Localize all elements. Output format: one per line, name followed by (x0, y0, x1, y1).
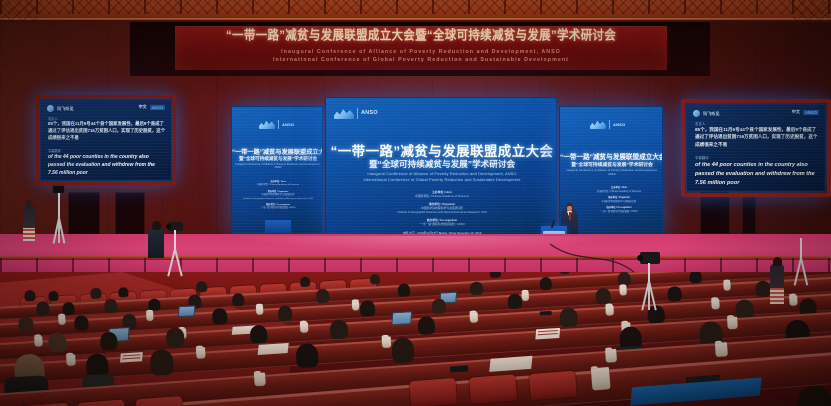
acoustic-panel (68, 192, 100, 240)
overhead-banner: “一带一路”减贫与发展联盟成立大会暨“全球可持续减贫与发展”学术研讨会 Inau… (175, 26, 667, 70)
right-screen-body: 主办单位 / Host 中国科学院 / Chinese Academy of S… (580, 187, 658, 214)
anso-mark-icon (590, 119, 606, 129)
body-line: “一带一路”国际科学组织联盟 / ANSO (580, 211, 658, 215)
left-screen-body: 主办单位 / Host 中国科学院 / Chinese Academy of S… (238, 181, 318, 211)
seat (136, 396, 184, 406)
body-line: 中国科学院 / Chinese Academy of Sciences (238, 184, 318, 187)
anso-logo-center: ANSO (334, 107, 378, 119)
body-line: “一带一路”国际科学组织联盟 / ANSO (238, 207, 318, 210)
seat (529, 371, 577, 400)
tripod-leg (648, 281, 650, 310)
audience-head (18, 316, 34, 333)
body-line: 中国科学院地理科学与资源研究所 (580, 201, 658, 205)
left-screen-podium-graphic (265, 220, 291, 234)
camera-operator-head (152, 221, 161, 230)
standing-staff-head (26, 200, 32, 207)
tripod-column (800, 238, 802, 260)
body-line: 中国科学院 / Chinese Academy of Sciences (580, 191, 658, 195)
standing-staff-right-skirt (770, 288, 784, 304)
left-screen-subtitle-en: Inaugural Conference of Alliance of Pove… (235, 164, 321, 171)
subtitle-panel-left-frame (36, 95, 176, 185)
left-screen-title-cn-1: “一带一路”减贫与发展联盟成立大会 (232, 147, 323, 156)
auditorium-seating-area (0, 272, 831, 406)
subtitle-panel-right-frame (681, 99, 831, 197)
left-screen-title-cn-2: 暨“全球可持续减贫与发展”学术研讨会 (232, 156, 323, 162)
standing-staff-right-head (773, 257, 782, 266)
body-line: “一带一路”国际科学组织联盟 / ANSO (342, 222, 542, 226)
logo-divider (278, 120, 279, 129)
anso-mark-icon (334, 107, 354, 119)
center-screen-title-cn-2: 暨“全球可持续减贫与发展”学术研讨会 (326, 158, 557, 170)
tripod-leg (58, 218, 60, 243)
center-screen-title-cn-1: “一带一路”减贫与发展联盟成立大会 (326, 140, 557, 160)
standing-staff-torso (23, 206, 35, 228)
seat (469, 374, 517, 403)
acoustic-panel (115, 192, 145, 238)
anso-logo-right: ANSO (590, 119, 625, 129)
audience-head-front (798, 386, 831, 406)
acoustic-panel (742, 192, 756, 234)
video-camera (640, 252, 660, 264)
seat (78, 399, 126, 406)
center-screen-body: 主办单位 / Host 中国科学院 / Chinese Academy of S… (342, 190, 542, 236)
anso-logo-label: ANSO (282, 122, 294, 127)
anso-mark-icon (259, 119, 275, 129)
logo-divider (357, 108, 358, 119)
right-screen-title-cn-1: “一带一路”减贫与发展联盟成立大会 (560, 151, 663, 161)
body-line: Institute of Geographic Sciences and Nat… (342, 210, 542, 214)
camera-lens-icon (637, 255, 643, 261)
banner-subtitle-en-1: Inaugural Conference of Alliance of Pove… (175, 48, 667, 56)
seat (409, 378, 457, 406)
ceiling-lattice-pattern (0, 0, 831, 14)
center-screen-subtitle-en-2: International Conference of Global Pover… (326, 177, 557, 182)
anso-logo-label: ANSO (613, 122, 625, 127)
anso-logo-label: ANSO (361, 110, 378, 116)
center-screen-subtitle-en-1: Inaugural Conference of Alliance of Pove… (326, 171, 557, 176)
speaker-face (567, 206, 572, 211)
anso-logo-left: ANSO (259, 119, 294, 129)
speaker-tie (569, 212, 571, 220)
camera-operator (148, 228, 164, 258)
auditorium-scene: “一带一路”减贫与发展联盟成立大会暨“全球可持续减贫与发展”学术研讨会 Inau… (0, 0, 831, 406)
right-screen-subtitle-en: Inaugural Conference of Alliance of Pove… (564, 169, 660, 176)
body-line: 中国科学院 / Chinese Academy of Sciences (342, 194, 542, 198)
right-screen-title-cn-2: 暨“全球可持续减贫与发展”学术研讨会 (560, 161, 663, 168)
logo-divider (609, 120, 610, 129)
body-line: Institute of Geographic Sciences and Nat… (238, 198, 318, 201)
camera-lens-icon (166, 224, 171, 229)
stage-screen-center: ANSO “一带一路”减贫与发展联盟成立大会 暨“全球可持续减贫与发展”学术研讨… (325, 97, 557, 237)
banner-title-cn: “一带一路”减贫与发展联盟成立大会暨“全球可持续减贫与发展”学术研讨会 (175, 28, 667, 45)
stage-screen-left: ANSO “一带一路”减贫与发展联盟成立大会 暨“全球可持续减贫与发展”学术研讨… (231, 106, 323, 234)
banner-subtitle-en-2: International Conference of Global Pover… (175, 56, 667, 64)
